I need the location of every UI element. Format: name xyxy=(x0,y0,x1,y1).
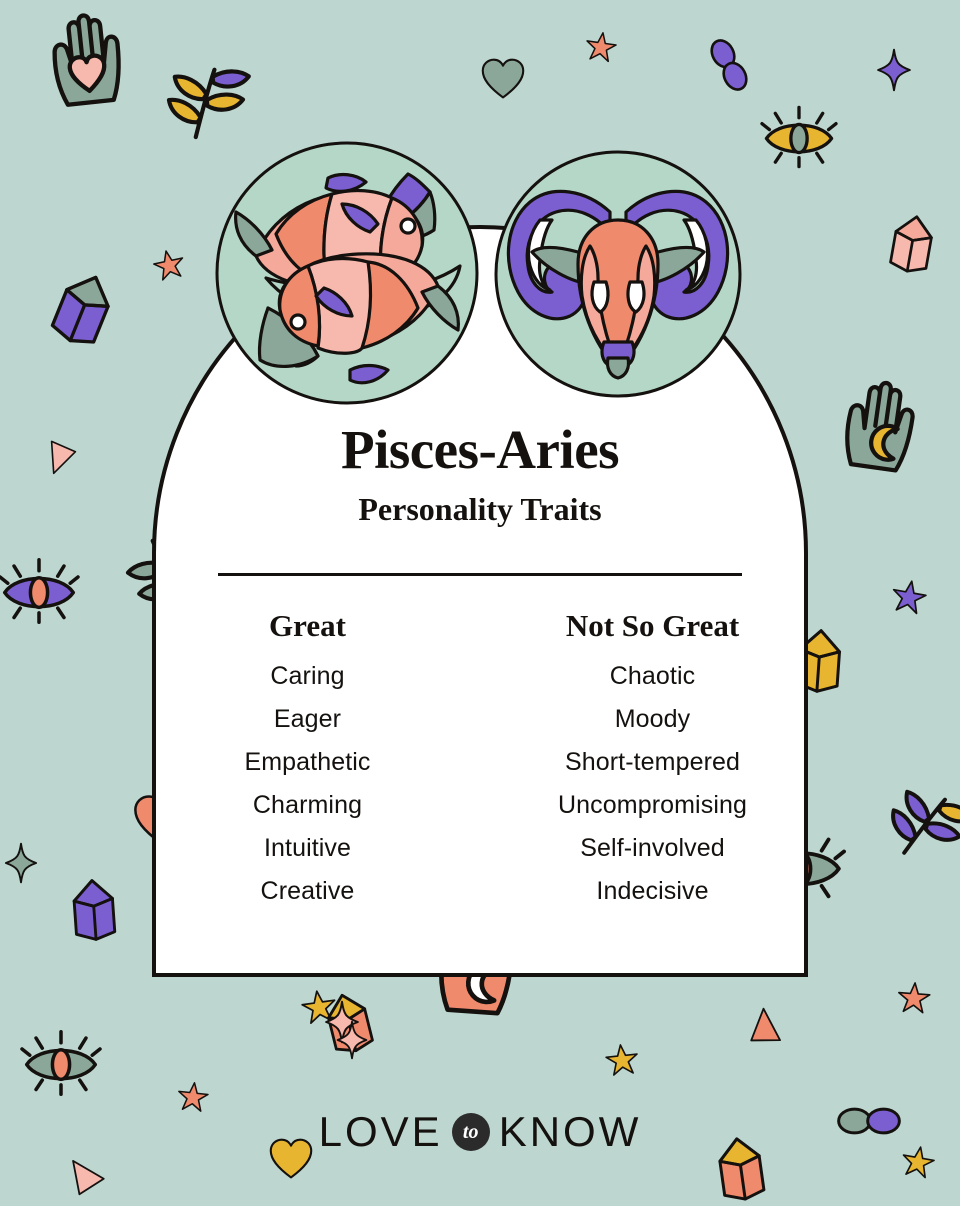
triangle-pink-icon-2 xyxy=(54,1150,110,1206)
hand-moon-icon xyxy=(830,372,936,478)
sparkle-sage-icon xyxy=(0,842,42,884)
heart-sage-icon xyxy=(480,56,526,102)
triangle-pink-icon xyxy=(43,439,81,477)
triangle-coral-icon xyxy=(736,1002,787,1053)
crystal-purple-icon-2 xyxy=(60,876,128,944)
brand-logo: LOVE to KNOW xyxy=(0,1106,960,1158)
leaf-branch-yellow-icon xyxy=(150,40,262,152)
logo-word-love: LOVE xyxy=(319,1111,443,1153)
crystal-purple-icon xyxy=(35,261,131,357)
leaf-branch-purple-icon xyxy=(867,759,960,882)
sparkle-purple-icon xyxy=(872,48,916,92)
logo-mark-text: to xyxy=(463,1122,479,1142)
star-coral-icon-4 xyxy=(895,979,933,1017)
star-coral-icon-2 xyxy=(149,245,189,285)
logo-circle-mark: to xyxy=(452,1113,490,1151)
logo-word-know: KNOW xyxy=(499,1111,642,1153)
eye-purple-icon xyxy=(0,552,78,630)
crystal-pink-icon xyxy=(877,209,947,279)
hand-heart-icon xyxy=(37,5,143,111)
aries-zodiac-icon xyxy=(490,146,746,402)
star-purple-icon xyxy=(887,575,931,619)
infographic-canvas: Pisces-Aries Personality Traits Great Ca… xyxy=(0,0,960,1200)
eye-yellow-icon xyxy=(762,100,836,174)
sparkle-coral-icon xyxy=(332,1020,372,1060)
eye-sage-icon-left xyxy=(22,1024,100,1102)
pisces-zodiac-icon xyxy=(212,138,482,408)
infinity-purple-icon xyxy=(690,26,768,104)
star-yellow-icon-2 xyxy=(602,1040,642,1080)
star-coral-icon xyxy=(582,28,620,66)
